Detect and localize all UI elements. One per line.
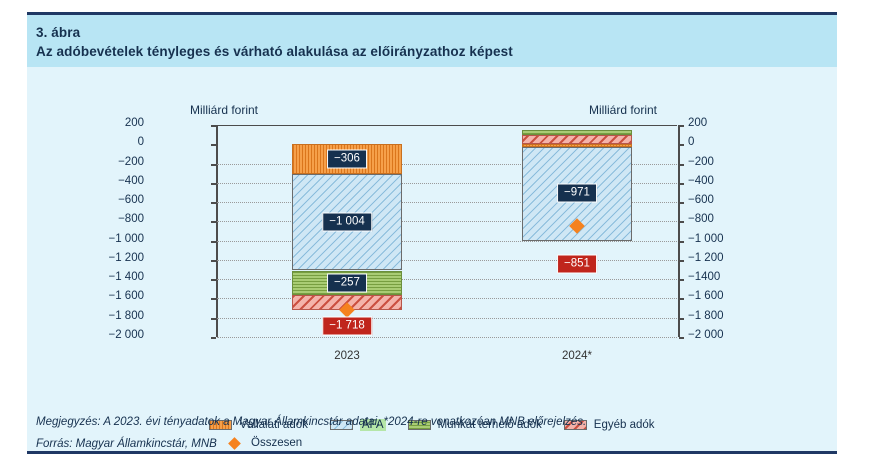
data-label-2023-total: −1 718 <box>322 317 372 336</box>
y-axis-tick-label: −1 600 <box>688 290 724 302</box>
bar-segment-other <box>522 135 632 144</box>
axis-tick <box>679 337 684 339</box>
y-axis-unit-left: Milliárd forint <box>190 103 258 117</box>
axis-tick <box>211 221 216 223</box>
footnote-note: Megjegyzés: A 2023. évi tényadatok a Mag… <box>36 411 826 433</box>
y-axis-tick-label: −1 200 <box>109 252 145 264</box>
axis-tick <box>679 125 684 127</box>
axis-tick <box>211 279 216 281</box>
data-label-2023-labour: −257 <box>327 273 367 292</box>
gridline <box>217 337 677 338</box>
footnote-source: Forrás: Magyar Államkincstár, MNB <box>36 433 826 455</box>
axis-tick <box>211 241 216 243</box>
y-axis-tick-label: −1400 <box>688 271 720 283</box>
axis-tick <box>211 337 216 339</box>
y-axis-tick-label: −1 200 <box>688 252 724 264</box>
axis-tick <box>679 144 684 146</box>
y-axis-tick-label: −400 <box>688 175 714 187</box>
y-axis-tick-label: −200 <box>688 156 714 168</box>
figure-header: 3. ábra Az adóbevételek tényleges és vár… <box>27 15 837 67</box>
y-axis-tick-label: −1 800 <box>109 310 145 322</box>
figure-footnotes: Megjegyzés: A 2023. évi tényadatok a Mag… <box>36 411 826 455</box>
axis-tick <box>679 298 684 300</box>
axis-tick <box>679 183 684 185</box>
figure-title: Az adóbevételek tényleges és várható ala… <box>36 42 837 61</box>
plot-canvas: −306−1 004−257−1 718−971−851 <box>217 125 677 337</box>
axis-tick <box>211 144 216 146</box>
axis-tick <box>679 260 684 262</box>
axis-tick <box>679 202 684 204</box>
y-axis-tick-label: −600 <box>688 194 714 206</box>
y-axis-tick-label: 0 <box>688 136 694 148</box>
axis-tick <box>679 221 684 223</box>
y-axis-tick-label: −1 000 <box>688 233 724 245</box>
y-axis-tick-label: −800 <box>688 213 714 225</box>
zero-baseline <box>217 125 677 126</box>
y-axis-unit-right: Milliárd forint <box>589 103 657 117</box>
y-axis-tick-label: −200 <box>118 156 144 168</box>
bar-segment-labour <box>522 130 632 135</box>
figure-panel: 3. ábra Az adóbevételek tényleges és vár… <box>27 12 837 454</box>
gridline <box>217 318 677 319</box>
gridline <box>217 241 677 242</box>
data-label-2023-corporate: −306 <box>327 150 367 169</box>
axis-tick <box>211 260 216 262</box>
chart-area: Milliárd forint Milliárd forint 20020000… <box>27 67 837 407</box>
data-label-2024-total: −851 <box>557 254 597 273</box>
axis-tick <box>211 202 216 204</box>
axis-tick <box>211 125 216 127</box>
x-axis-label-2023: 2023 <box>287 350 407 362</box>
axis-tick <box>211 183 216 185</box>
axis-tick <box>679 279 684 281</box>
y-axis-right <box>678 125 680 337</box>
data-label-2023-vat: −1 004 <box>322 213 372 232</box>
gridline <box>217 298 677 299</box>
y-axis-tick-label: −2 000 <box>688 329 724 341</box>
y-axis-tick-label: −1 400 <box>109 271 145 283</box>
gridline <box>217 260 677 261</box>
axis-tick <box>679 164 684 166</box>
y-axis-tick-label: 0 <box>138 136 144 148</box>
y-axis-tick-label: −1 800 <box>688 310 724 322</box>
x-axis-label-2024: 2024* <box>517 350 637 362</box>
data-label-2024-vat: −971 <box>557 184 597 203</box>
axis-tick <box>211 298 216 300</box>
y-axis-tick-label: −2 000 <box>109 329 145 341</box>
y-axis-tick-label: 200 <box>688 117 707 129</box>
gridline <box>217 279 677 280</box>
y-axis-tick-label: −800 <box>118 213 144 225</box>
y-axis-tick-label: −1 000 <box>109 233 145 245</box>
axis-tick <box>211 318 216 320</box>
figure-number: 3. ábra <box>36 23 837 42</box>
y-axis-tick-label: −1 600 <box>109 290 145 302</box>
y-axis-tick-label: −400 <box>118 175 144 187</box>
y-axis-tick-label: −600 <box>118 194 144 206</box>
axis-tick <box>679 241 684 243</box>
y-axis-tick-label: 200 <box>125 117 144 129</box>
axis-tick <box>211 164 216 166</box>
axis-tick <box>679 318 684 320</box>
